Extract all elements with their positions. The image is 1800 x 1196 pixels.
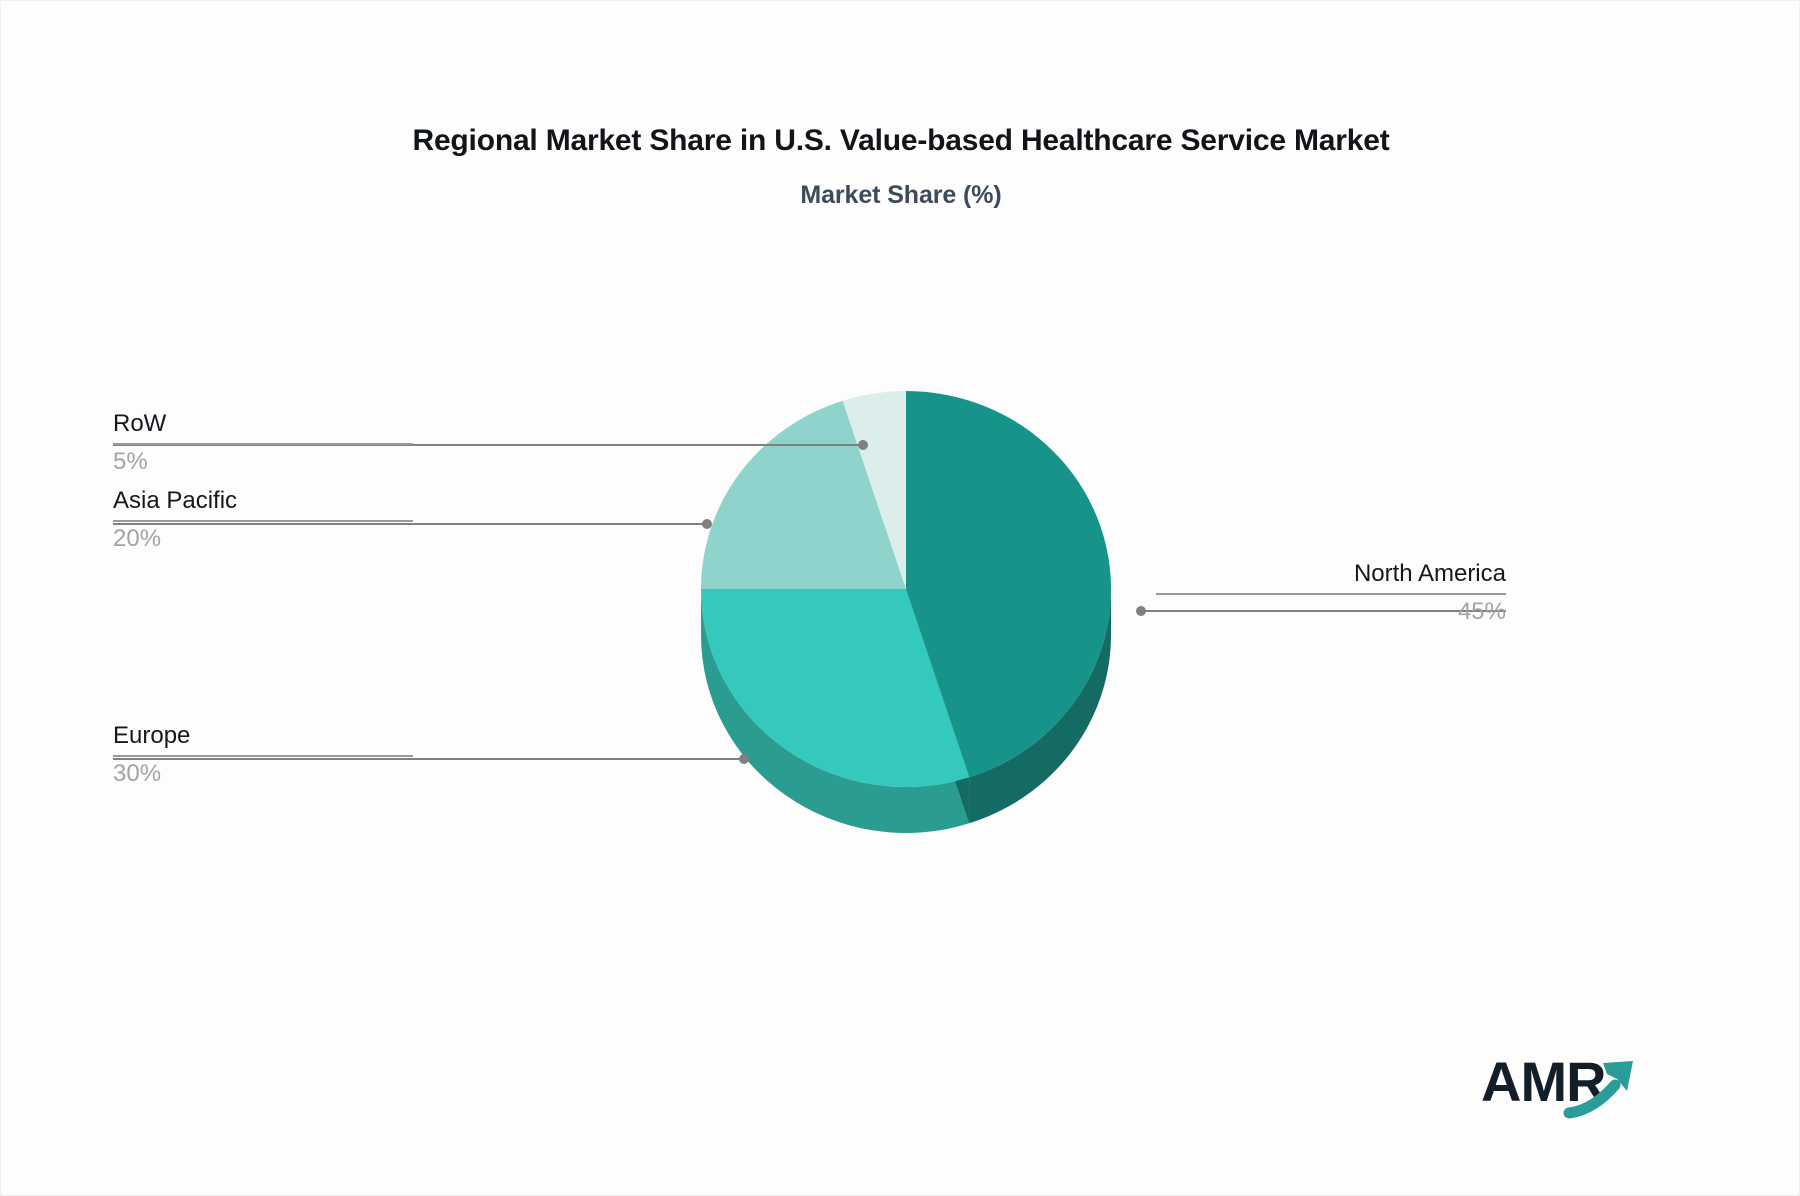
callout-europe[interactable]: Europe 30%	[113, 721, 413, 789]
callout-europe-value: 30%	[113, 759, 413, 789]
callout-europe-rule	[113, 755, 413, 757]
callout-row[interactable]: RoW 5%	[113, 409, 413, 477]
pie-chart-plot	[1, 1, 1800, 1196]
leader-dot-europe	[739, 754, 749, 764]
leader-dot-asia-pacific	[702, 519, 712, 529]
callout-asia-pacific-value: 20%	[113, 524, 413, 554]
callout-asia-pacific[interactable]: Asia Pacific 20%	[113, 486, 413, 554]
callout-europe-label: Europe	[113, 721, 413, 751]
leader-dot-row	[858, 440, 868, 450]
callout-row-value: 5%	[113, 447, 413, 477]
amr-logo: AMR	[1481, 1041, 1681, 1131]
callout-north-america-label: North America	[1156, 559, 1506, 589]
callout-row-rule	[113, 443, 413, 445]
pie-slices	[701, 391, 1111, 787]
callout-row-label: RoW	[113, 409, 413, 439]
leader-dot-north-america	[1136, 606, 1146, 616]
growth-arrow-icon	[1481, 1041, 1681, 1131]
callout-asia-pacific-rule	[113, 520, 413, 522]
callout-asia-pacific-label: Asia Pacific	[113, 486, 413, 516]
callout-north-america[interactable]: North America 45%	[1156, 559, 1506, 627]
chart-canvas: Regional Market Share in U.S. Value-base…	[0, 0, 1800, 1196]
callout-north-america-rule	[1156, 593, 1506, 595]
callout-north-america-value: 45%	[1156, 597, 1506, 627]
